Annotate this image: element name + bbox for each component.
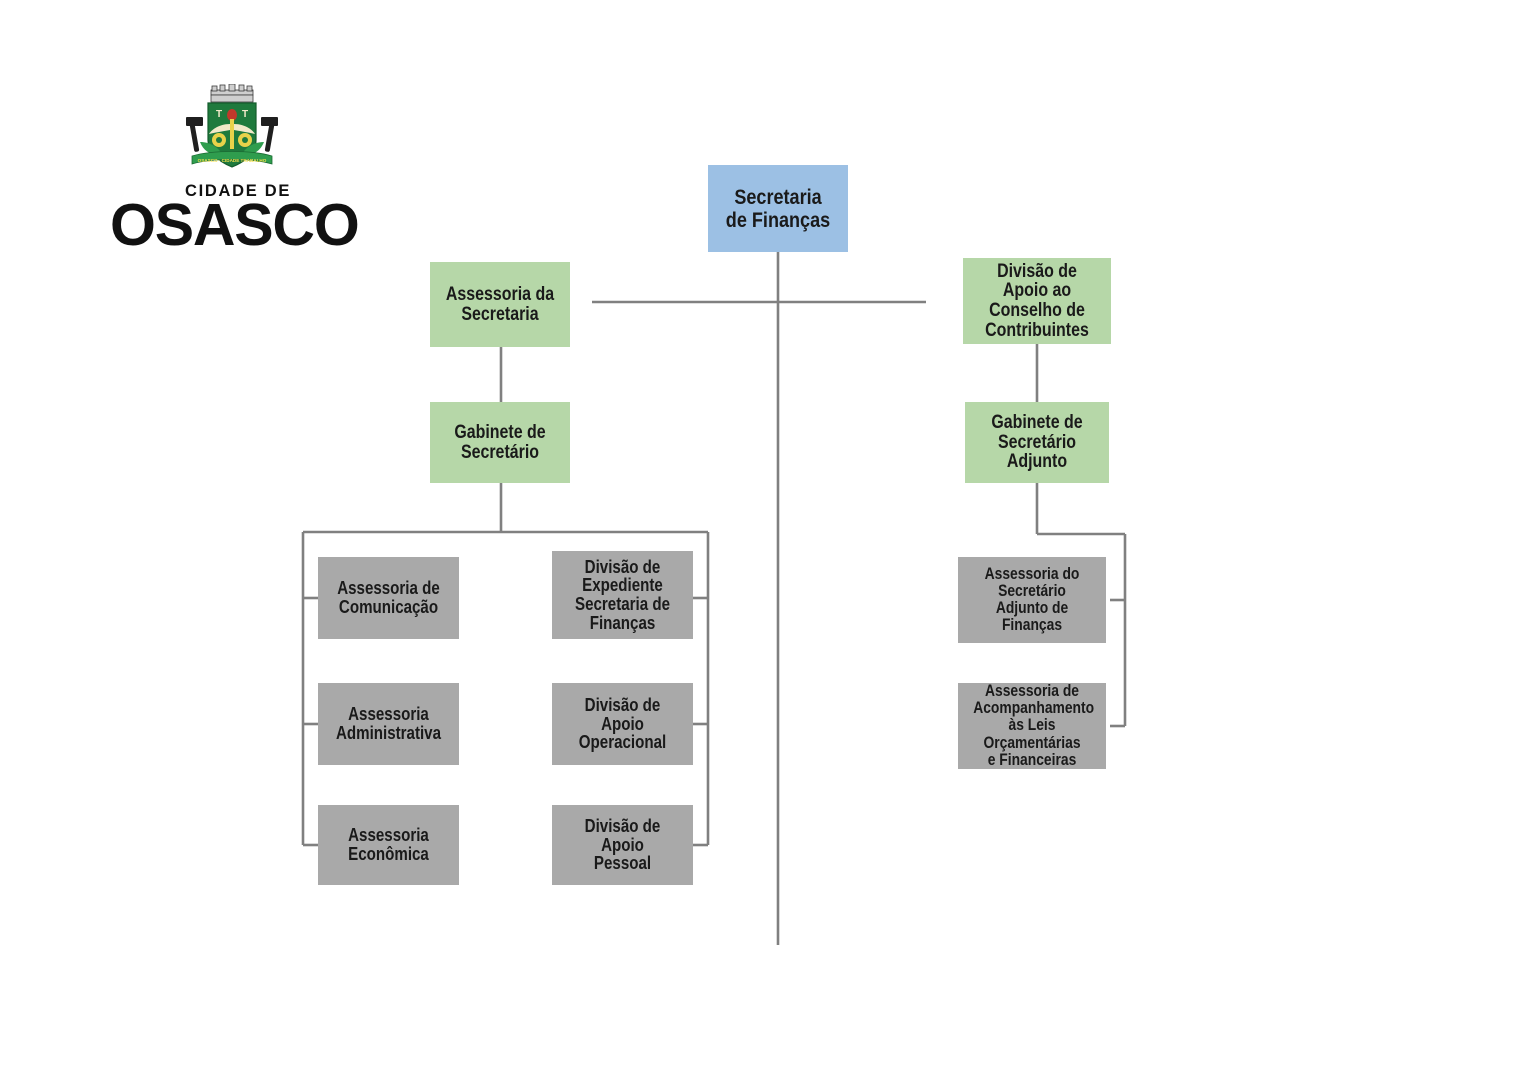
node-assessoria-da-secretaria[interactable]: Assessoria da Secretaria — [430, 262, 570, 347]
node-label: Assessoria da Secretaria — [445, 285, 556, 325]
logo-osasco-text: OSASCO — [110, 196, 359, 255]
node-label: Assessoria Econômica — [333, 826, 445, 863]
node-assessoria-acompanhamento-leis[interactable]: Assessoria de Acompanhamento às Leis Orç… — [958, 683, 1106, 769]
node-label: Assessoria de Comunicação — [333, 579, 445, 616]
node-gabinete-de-secretario[interactable]: Gabinete de Secretário — [430, 402, 570, 483]
coat-of-arms-icon: T T OSASCO · CIDADE TRABA — [178, 84, 286, 176]
node-assessoria-administrativa[interactable]: Assessoria Administrativa — [318, 683, 459, 765]
node-label: Assessoria do Secretário Adjunto de Fina… — [973, 566, 1091, 635]
node-label: Divisão de Apoio Operacional — [567, 696, 679, 752]
node-label: Divisão de Apoio Pessoal — [567, 817, 679, 873]
org-chart-canvas: T T OSASCO · CIDADE TRABA — [0, 0, 1536, 1086]
node-secretaria-de-financas[interactable]: Secretaria de Finanças — [708, 165, 848, 252]
node-gabinete-de-secretario-adjunto[interactable]: Gabinete de Secretário Adjunto — [965, 402, 1109, 483]
node-label: Assessoria Administrativa — [333, 705, 445, 742]
node-assessoria-de-comunicacao[interactable]: Assessoria de Comunicação — [318, 557, 459, 639]
svg-text:T: T — [216, 109, 222, 120]
node-label: Divisão de Apoio ao Conselho de Contribu… — [978, 262, 1096, 341]
node-divisao-apoio-conselho-contribuintes[interactable]: Divisão de Apoio ao Conselho de Contribu… — [963, 258, 1111, 344]
node-divisao-apoio-operacional[interactable]: Divisão de Apoio Operacional — [552, 683, 693, 765]
node-divisao-apoio-pessoal[interactable]: Divisão de Apoio Pessoal — [552, 805, 693, 885]
node-label: Divisão de Expediente Secretaria de Fina… — [567, 558, 679, 633]
node-label: Gabinete de Secretário Adjunto — [980, 413, 1094, 472]
crest-motto: OSASCO · CIDADE TRABALHO — [198, 158, 267, 163]
node-divisao-expediente-secretaria-financas[interactable]: Divisão de Expediente Secretaria de Fina… — [552, 551, 693, 639]
svg-text:T: T — [242, 109, 248, 120]
node-assessoria-secretario-adjunto-financas[interactable]: Assessoria do Secretário Adjunto de Fina… — [958, 557, 1106, 643]
node-label: Gabinete de Secretário — [445, 423, 556, 463]
node-label: Secretaria de Finanças — [723, 186, 834, 231]
osasco-logo: T T OSASCO · CIDADE TRABA — [110, 84, 355, 239]
node-label: Assessoria de Acompanhamento às Leis Orç… — [973, 683, 1091, 769]
node-assessoria-economica[interactable]: Assessoria Econômica — [318, 805, 459, 885]
